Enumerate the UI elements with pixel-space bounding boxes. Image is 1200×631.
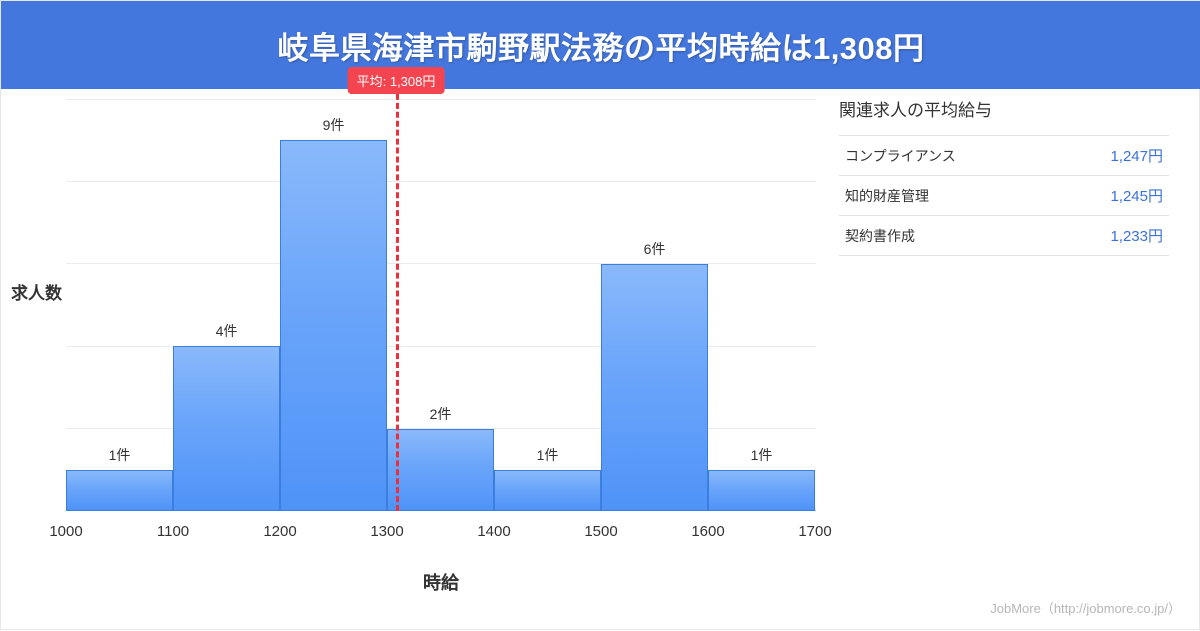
- footer-attribution: JobMore（http://jobmore.co.jp/）: [990, 598, 1181, 617]
- x-tick-1600: 1600: [691, 523, 724, 540]
- x-axis-title: 時給: [66, 569, 816, 595]
- table-row: 契約書作成 1,233円: [839, 216, 1169, 256]
- x-tick-1700: 1700: [798, 523, 831, 540]
- bar-bin-1500: [601, 264, 708, 511]
- bar-bin-1600: [708, 470, 815, 511]
- related-salary-title: 関連求人の平均給与: [839, 96, 1179, 121]
- average-line: [396, 85, 399, 511]
- bar-bin-1300: [387, 429, 494, 511]
- plot-area: 1件 4件 9件 2件 1件 6件 1件: [66, 99, 816, 511]
- bar-label-1400: 1件: [494, 445, 601, 465]
- x-tick-1400: 1400: [477, 523, 510, 540]
- page-title: 岐阜県海津市駒野駅法務の平均時給は1,308円: [277, 23, 924, 68]
- related-job-name: コンプライアンス: [839, 136, 1055, 176]
- bar-bin-1200: [280, 140, 387, 511]
- bar-label-1100: 4件: [173, 321, 280, 341]
- page-header: 岐阜県海津市駒野駅法務の平均時給は1,308円: [1, 1, 1200, 89]
- table-row: 知的財産管理 1,245円: [839, 176, 1169, 216]
- bar-bin-1400: [494, 470, 601, 511]
- y-axis-title: 求人数: [11, 279, 62, 304]
- bar-label-1500: 6件: [601, 239, 708, 259]
- related-job-value: 1,247円: [1055, 136, 1169, 176]
- x-tick-1100: 1100: [157, 523, 189, 540]
- bar-label-1300: 2件: [387, 404, 494, 424]
- related-job-name: 知的財産管理: [839, 176, 1055, 216]
- bar-label-1200: 9件: [280, 115, 387, 135]
- bar-series: 1件 4件 9件 2件 1件 6件 1件: [66, 99, 816, 511]
- bar-label-1600: 1件: [708, 445, 815, 465]
- related-job-name: 契約書作成: [839, 216, 1055, 256]
- related-job-value: 1,233円: [1055, 216, 1169, 256]
- chart-page: 岐阜県海津市駒野駅法務の平均時給は1,308円 求人数 1件 4件 9件: [0, 0, 1200, 630]
- x-tick-1200: 1200: [263, 523, 296, 540]
- x-tick-1500: 1500: [584, 523, 617, 540]
- bar-bin-1000: [66, 470, 173, 511]
- x-tick-1000: 1000: [49, 523, 82, 540]
- chart-container: 求人数 1件 4件 9件 2件: [1, 89, 831, 631]
- bar-bin-1100: [173, 346, 280, 511]
- related-salary-table: コンプライアンス 1,247円 知的財産管理 1,245円 契約書作成 1,23…: [839, 135, 1169, 256]
- average-badge: 平均: 1,308円: [348, 67, 445, 94]
- x-tick-1300: 1300: [370, 523, 403, 540]
- table-row: コンプライアンス 1,247円: [839, 136, 1169, 176]
- bar-label-1000: 1件: [66, 445, 173, 465]
- related-salary-panel: 関連求人の平均給与 コンプライアンス 1,247円 知的財産管理 1,245円 …: [839, 96, 1179, 256]
- related-job-value: 1,245円: [1055, 176, 1169, 216]
